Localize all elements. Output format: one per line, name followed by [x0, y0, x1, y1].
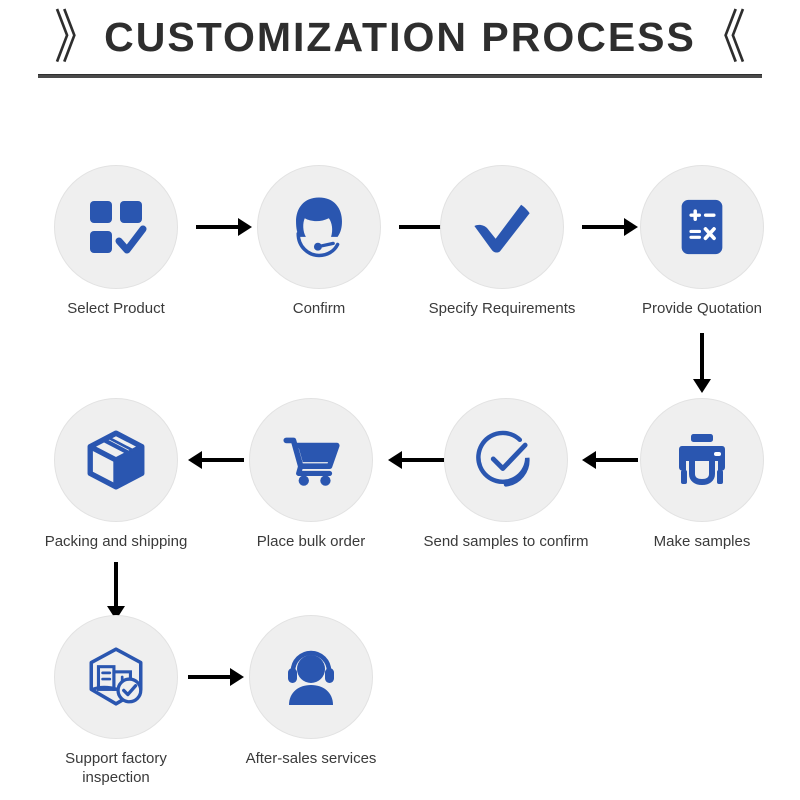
- step-send-samples-to-confirm[interactable]: Send samples to confirm: [440, 398, 572, 552]
- step-confirm[interactable]: Confirm: [253, 165, 385, 319]
- page-header: 》 CUSTOMIZATION PROCESS 《: [0, 0, 800, 92]
- arrow-1-to-2: [196, 217, 252, 237]
- arrow-3-to-4: [582, 217, 638, 237]
- step-label: Confirm: [293, 300, 346, 319]
- step-place-bulk-order[interactable]: Place bulk order: [245, 398, 377, 552]
- arrow-8-to-9: [106, 562, 126, 620]
- step-packing-and-shipping[interactable]: Packing and shipping: [50, 398, 182, 552]
- factory-inspection-icon: [83, 644, 149, 710]
- arrow-9-to-10: [188, 667, 244, 687]
- step-icon-circle: [440, 165, 564, 289]
- step-label: Support factory inspection: [41, 750, 191, 788]
- step-make-samples[interactable]: Make samples: [636, 398, 768, 552]
- step-icon-circle: [444, 398, 568, 522]
- support-agent-icon: [284, 192, 354, 262]
- step-label: Provide Quotation: [642, 300, 762, 319]
- step-icon-circle: [640, 165, 764, 289]
- step-label: Send samples to confirm: [423, 533, 588, 552]
- printing-press-icon: [670, 428, 734, 492]
- headset-person-icon: [279, 645, 343, 709]
- page-title: 》 CUSTOMIZATION PROCESS 《: [0, 8, 800, 66]
- step-icon-circle: [257, 165, 381, 289]
- step-label: Packing and shipping: [45, 533, 188, 552]
- step-icon-circle: [249, 615, 373, 739]
- step-icon-circle: [54, 165, 178, 289]
- grid-check-icon: [84, 195, 148, 259]
- step-icon-circle: [249, 398, 373, 522]
- step-after-sales-services[interactable]: After-sales services: [245, 615, 377, 769]
- left-chevron-icon: 》: [54, 8, 100, 66]
- right-chevron-icon: 《: [700, 8, 746, 66]
- step-label: After-sales services: [246, 750, 377, 769]
- arrow-5-to-6: [582, 450, 638, 470]
- arrow-7-to-8: [188, 450, 244, 470]
- shopping-cart-icon: [278, 427, 344, 493]
- arrow-4-to-5: [692, 333, 712, 393]
- step-label: Place bulk order: [257, 533, 365, 552]
- step-specify-requirements[interactable]: Specify Requirements: [436, 165, 568, 319]
- step-label: Select Product: [67, 300, 165, 319]
- header-divider: [38, 74, 762, 78]
- checkmark-icon: [468, 193, 536, 261]
- circle-check-icon: [472, 426, 540, 494]
- arrow-6-to-7: [388, 450, 444, 470]
- step-icon-circle: [54, 398, 178, 522]
- step-support-factory-inspection[interactable]: Support factory inspection: [50, 615, 182, 788]
- page-title-text: CUSTOMIZATION PROCESS: [104, 17, 696, 58]
- step-provide-quotation[interactable]: Provide Quotation: [636, 165, 768, 319]
- step-label: Make samples: [654, 533, 751, 552]
- step-icon-circle: [640, 398, 764, 522]
- step-label: Specify Requirements: [429, 300, 576, 319]
- package-box-icon: [83, 427, 149, 493]
- calculator-icon: [671, 196, 733, 258]
- step-select-product[interactable]: Select Product: [50, 165, 182, 319]
- step-icon-circle: [54, 615, 178, 739]
